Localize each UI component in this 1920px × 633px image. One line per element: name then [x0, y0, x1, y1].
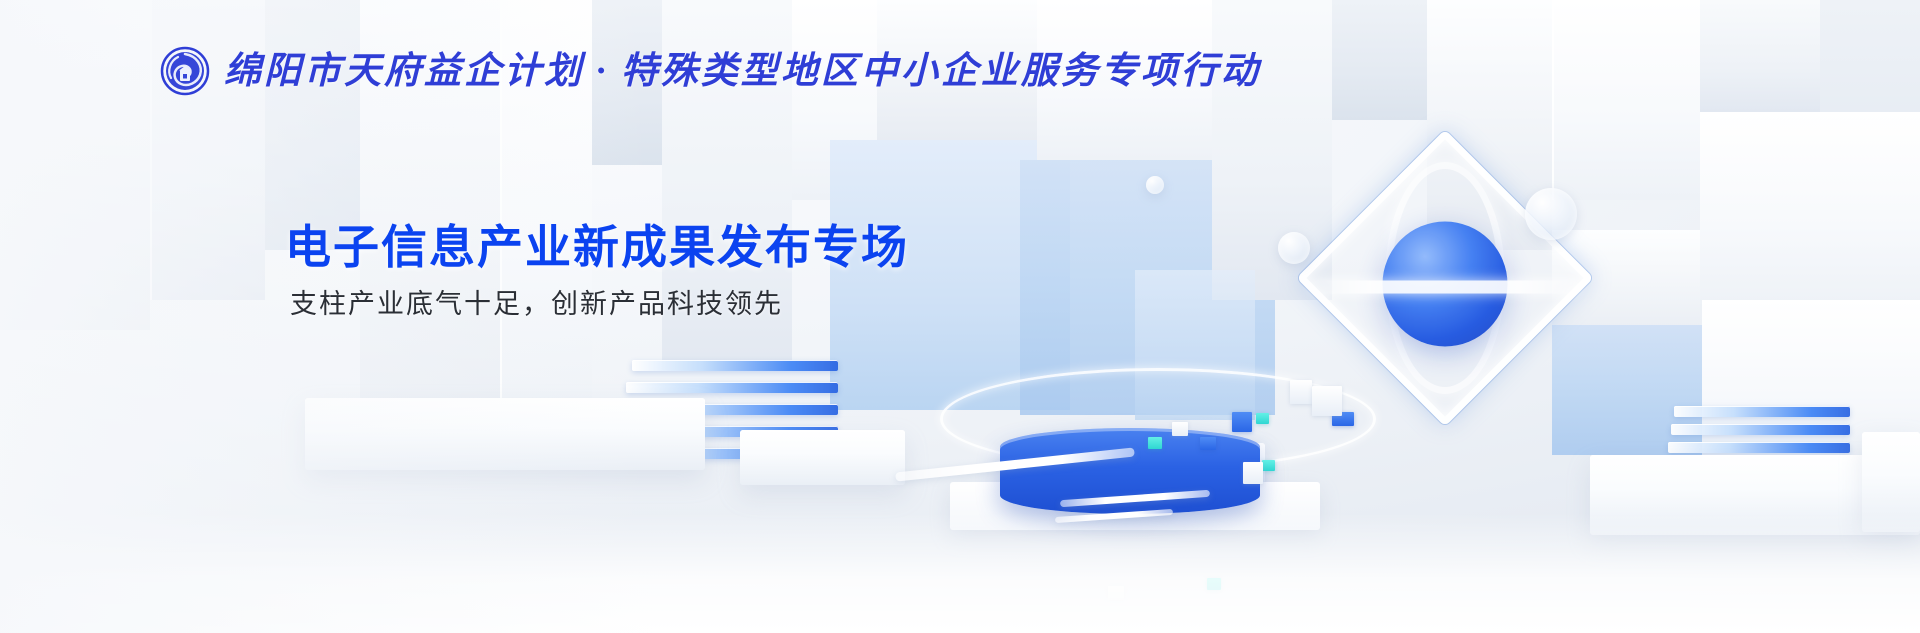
- banner-text-layer: 绵阳市天府益企计划 · 特殊类型地区中小企业服务专项行动 电子信息产业新成果发布…: [0, 0, 1920, 633]
- main-headline: 电子信息产业新成果发布专场: [285, 211, 909, 277]
- program-title-text: 绵阳市天府益企计划 · 特殊类型地区中小企业服务专项行动: [224, 53, 1261, 90]
- sub-headline: 支柱产业底气十足，创新产品科技领先: [290, 282, 783, 321]
- banner-stage: 绵阳市天府益企计划 · 特殊类型地区中小企业服务专项行动 电子信息产业新成果发布…: [0, 0, 1920, 633]
- program-logo-icon: [160, 46, 210, 96]
- program-title-row: 绵阳市天府益企计划 · 特殊类型地区中小企业服务专项行动: [160, 46, 1261, 96]
